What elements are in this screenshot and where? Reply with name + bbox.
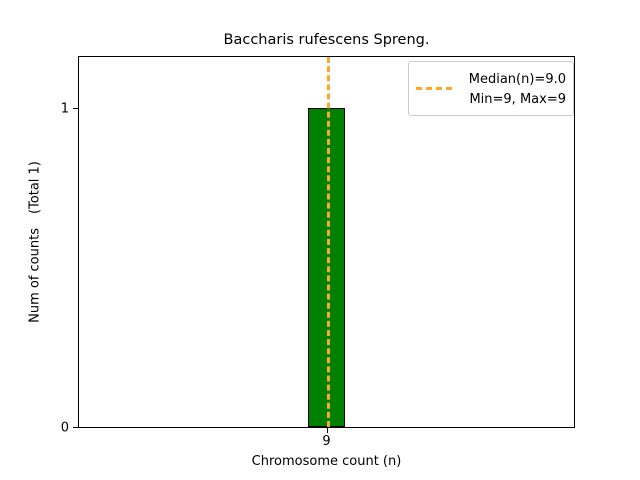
legend-text-group: Median(n)=9.0 Min=9, Max=9 (459, 68, 566, 108)
x-tick-9 (327, 427, 328, 433)
legend-label-median: Median(n)=9.0 (469, 72, 566, 87)
legend-label-minmax: Min=9, Max=9 (469, 92, 566, 107)
chart-figure: Baccharis rufescens Spreng. 0 1 9 Chromo… (0, 0, 640, 480)
x-tick-label-9: 9 (322, 435, 330, 448)
y-axis-label-total: (Total 1) (28, 161, 43, 214)
legend-dashed-line-icon (416, 87, 452, 90)
y-tick-0: 0 (73, 427, 79, 428)
chart-legend: Median(n)=9.0 Min=9, Max=9 (408, 61, 574, 116)
median-line (327, 57, 330, 427)
y-axis-label: Num of counts(Total 1) (28, 161, 43, 323)
y-tick-1: 1 (73, 108, 79, 109)
chart-title: Baccharis rufescens Spreng. (78, 31, 575, 49)
x-axis-label: Chromosome count (n) (78, 454, 575, 469)
y-axis-label-main: Num of counts (28, 228, 43, 323)
y-axis-label-wrap: Num of counts(Total 1) (0, 56, 70, 428)
legend-row: Median(n)=9.0 Min=9, Max=9 (416, 68, 566, 108)
